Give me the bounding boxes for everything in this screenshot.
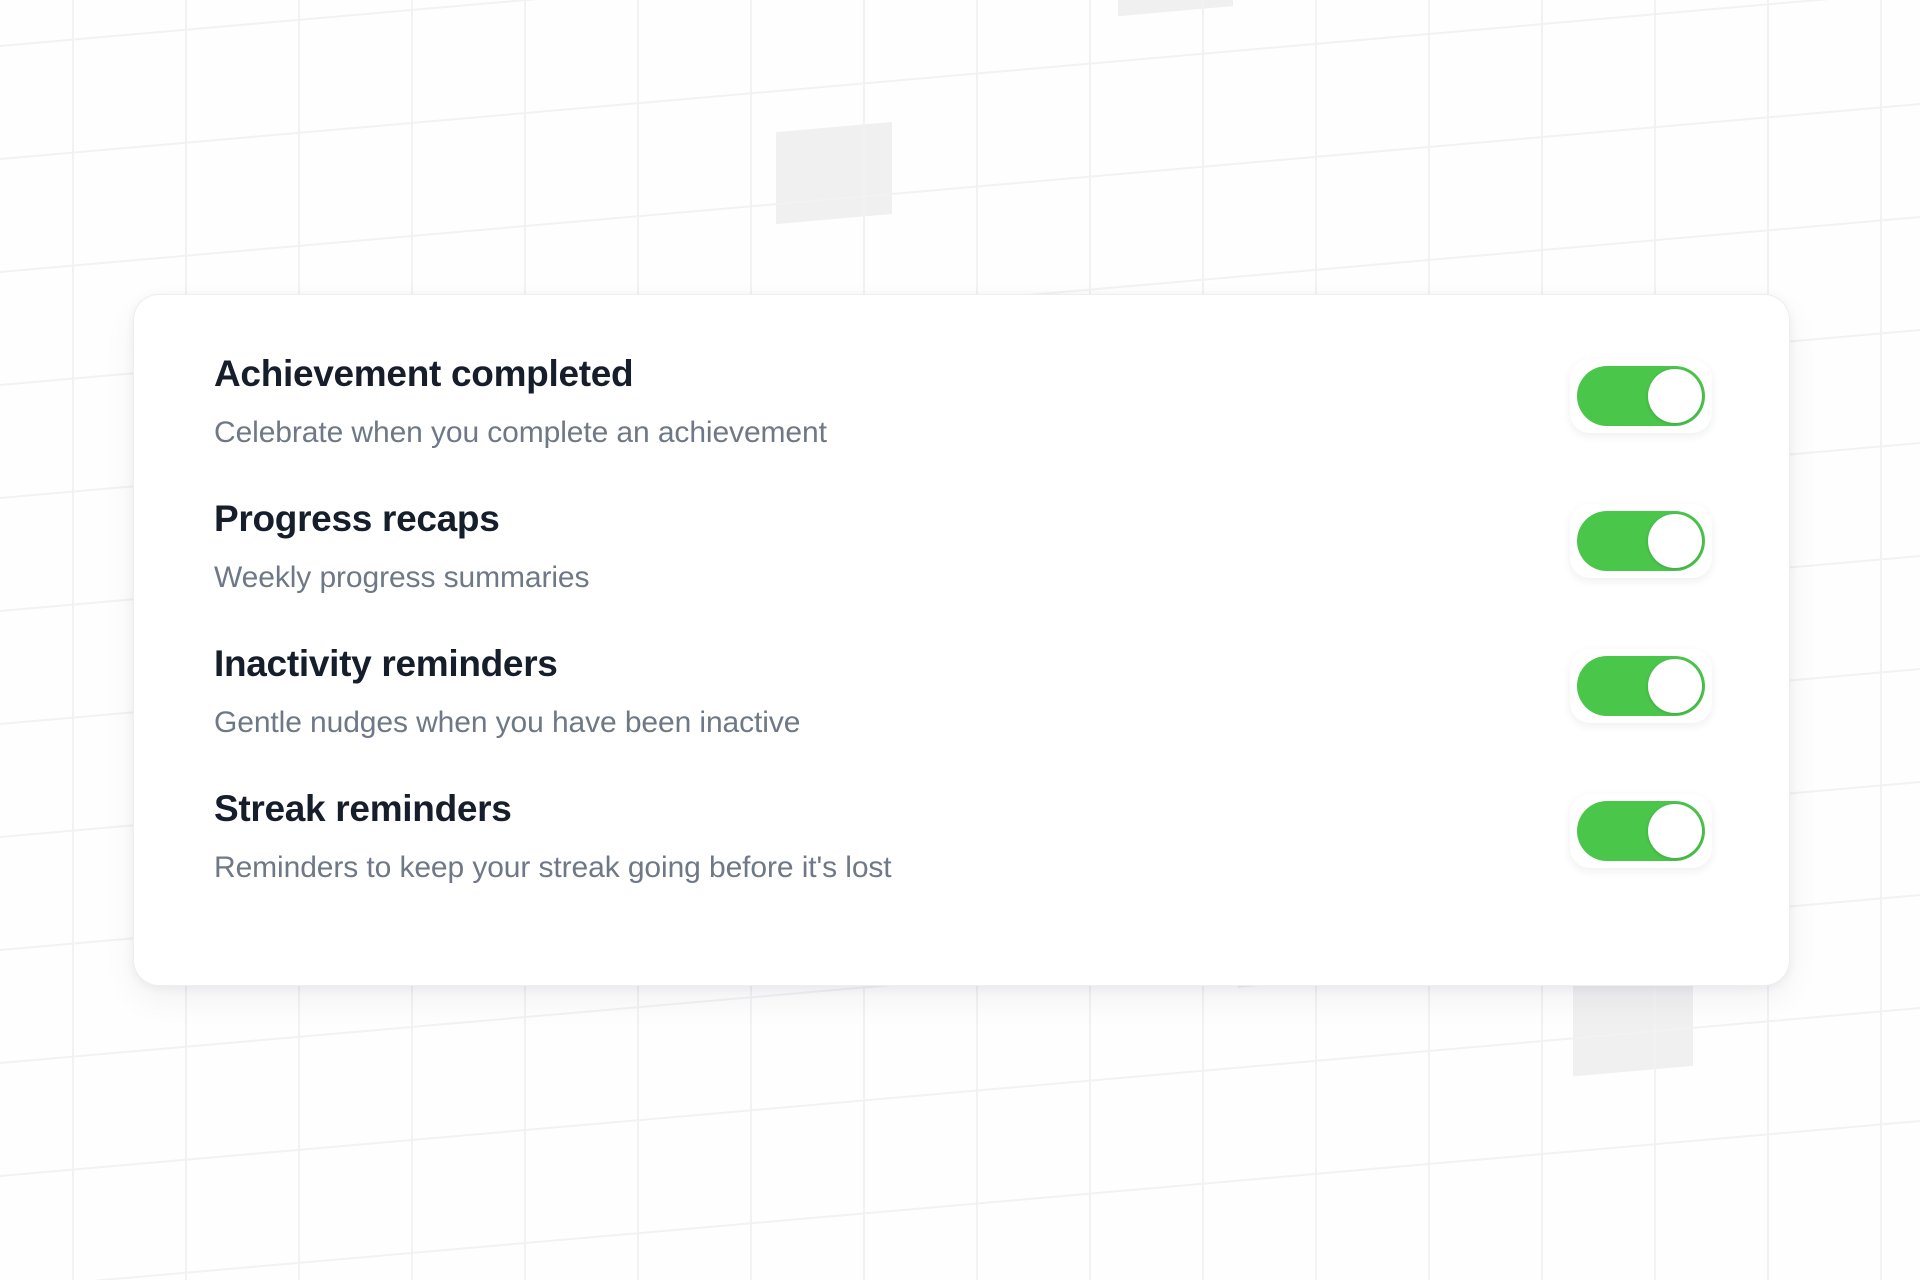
setting-text-block: Progress recaps Weekly progress summarie… [214,495,589,596]
setting-text-block: Inactivity reminders Gentle nudges when … [214,640,800,741]
toggle-container[interactable] [1570,359,1712,433]
setting-title: Achievement completed [214,352,827,396]
toggle-container[interactable] [1570,504,1712,578]
toggle-switch-streak-reminders[interactable] [1577,801,1705,861]
setting-title: Streak reminders [214,787,892,831]
settings-list: Achievement completed Celebrate when you… [134,295,1789,967]
toggle-switch-progress-recaps[interactable] [1577,511,1705,571]
setting-title: Inactivity reminders [214,642,800,686]
notification-settings-card: Achievement completed Celebrate when you… [133,294,1790,986]
toggle-container[interactable] [1570,649,1712,723]
setting-description: Gentle nudges when you have been inactiv… [214,705,800,741]
toggle-switch-inactivity-reminders[interactable] [1577,656,1705,716]
setting-description: Weekly progress summaries [214,560,589,596]
toggle-switch-achievement-completed[interactable] [1577,366,1705,426]
setting-text-block: Streak reminders Reminders to keep your … [214,785,892,886]
toggle-container[interactable] [1570,794,1712,868]
toggle-knob-icon [1648,804,1702,858]
setting-description: Celebrate when you complete an achieveme… [214,415,827,451]
setting-row-achievement-completed[interactable]: Achievement completed Celebrate when you… [214,341,1712,486]
setting-row-inactivity-reminders[interactable]: Inactivity reminders Gentle nudges when … [214,631,1712,776]
setting-row-streak-reminders[interactable]: Streak reminders Reminders to keep your … [214,776,1712,921]
toggle-knob-icon [1648,659,1702,713]
toggle-knob-icon [1648,514,1702,568]
setting-row-progress-recaps[interactable]: Progress recaps Weekly progress summarie… [214,486,1712,631]
setting-description: Reminders to keep your streak going befo… [214,850,892,886]
setting-title: Progress recaps [214,497,589,541]
setting-text-block: Achievement completed Celebrate when you… [214,350,827,451]
toggle-knob-icon [1648,369,1702,423]
